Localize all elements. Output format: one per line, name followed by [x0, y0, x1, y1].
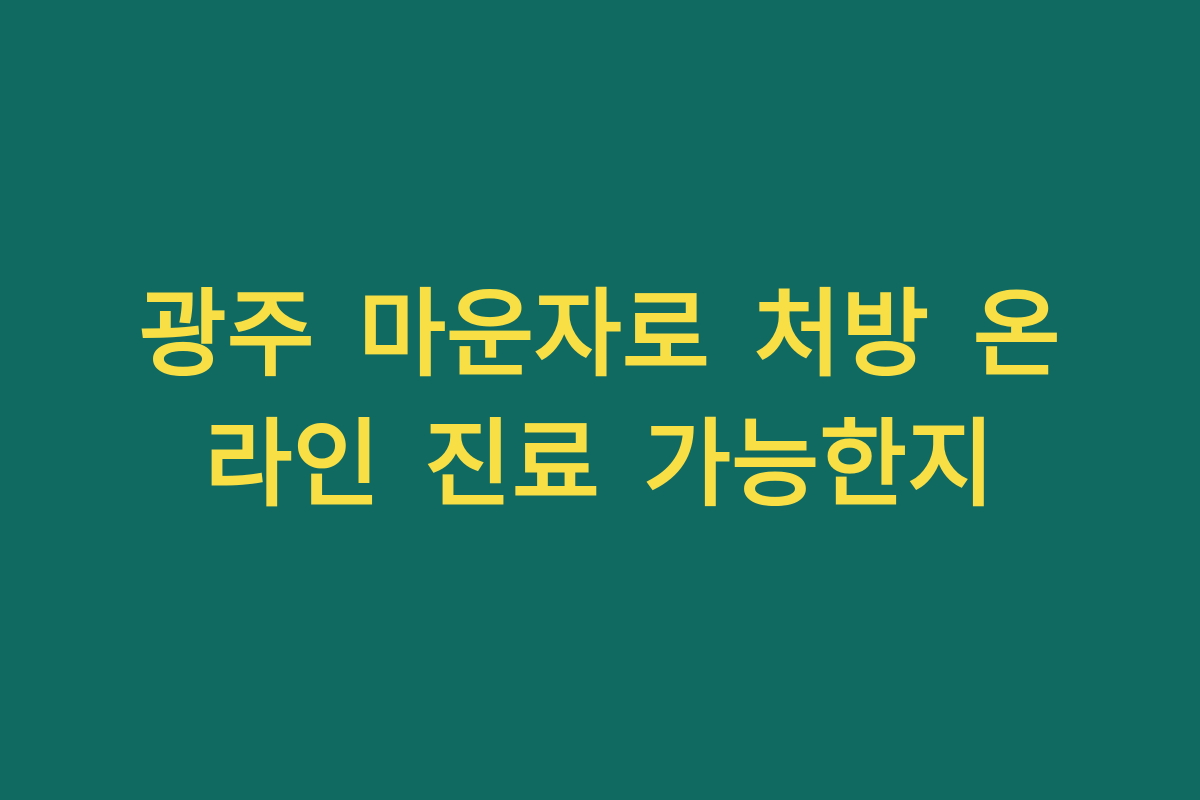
headline-line: 광주 마운자로 처방 온 — [100, 270, 1100, 400]
headline-line: 라인 진료 가능한지 — [100, 400, 1100, 530]
text-banner: 광주 마운자로 처방 온라인 진료 가능한지 — [0, 0, 1200, 800]
banner-headline: 광주 마운자로 처방 온라인 진료 가능한지 — [100, 270, 1100, 530]
